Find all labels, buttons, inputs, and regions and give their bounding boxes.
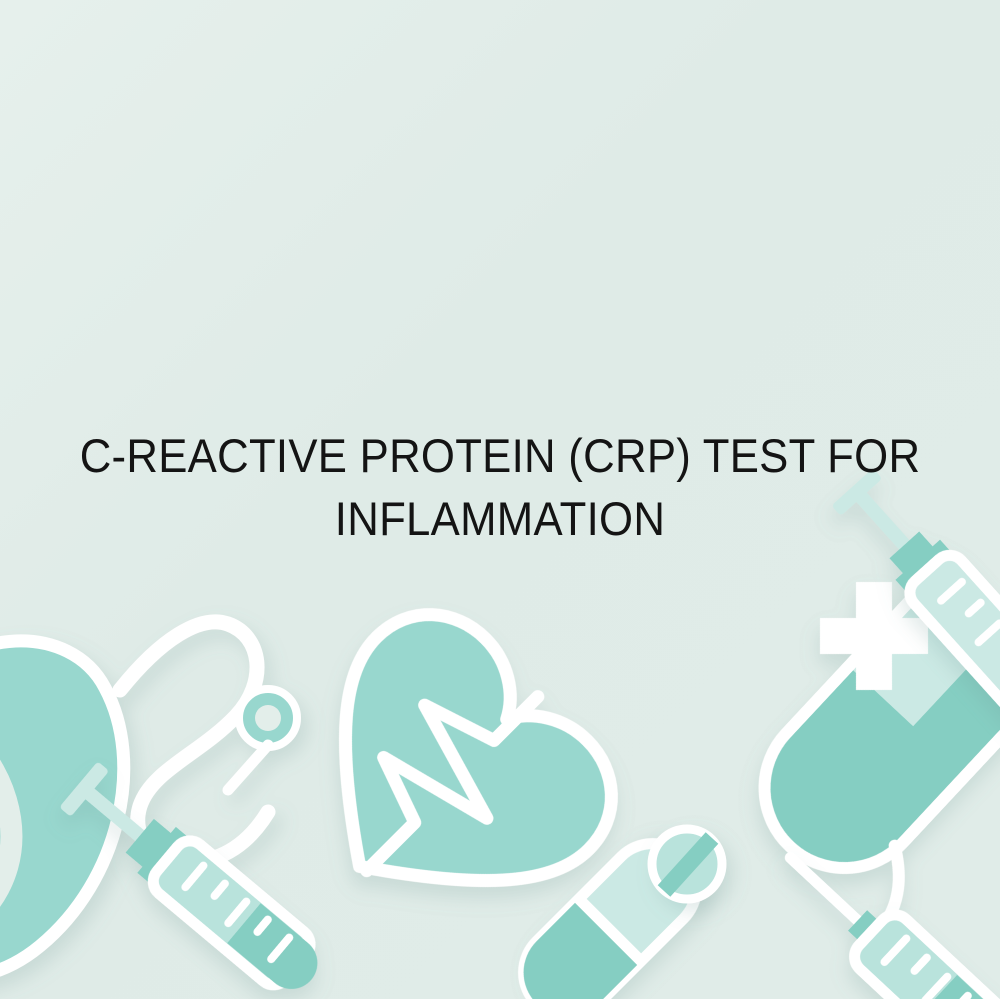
broken-heart-icon xyxy=(254,584,643,973)
poster-canvas: C-REACTIVE PROTEIN (CRP) TEST FOR INFLAM… xyxy=(0,0,1000,999)
syringe-icon xyxy=(58,760,332,999)
stethoscope-icon xyxy=(0,622,297,978)
page-title-line-1: C-REACTIVE PROTEIN (CRP) TEST FOR xyxy=(35,424,965,487)
page-title: C-REACTIVE PROTEIN (CRP) TEST FOR INFLAM… xyxy=(0,424,1000,550)
round-tablet-icon xyxy=(652,829,722,899)
blood-drop-icon xyxy=(665,516,1000,940)
syringe-icon xyxy=(767,833,1000,999)
capsule-pill-icon xyxy=(505,825,714,999)
page-title-line-2: INFLAMMATION xyxy=(35,487,965,550)
